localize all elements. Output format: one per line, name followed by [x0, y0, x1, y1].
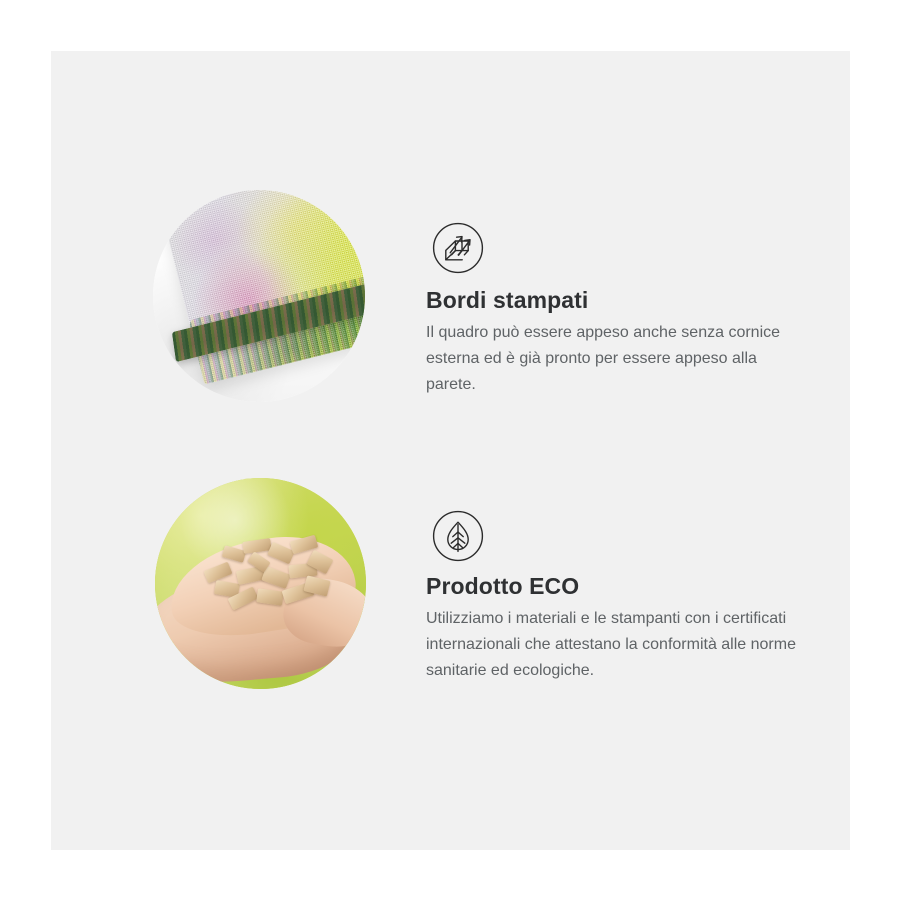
feature-text-eco-product: Prodotto ECO Utilizziamo i materiali e l…	[426, 573, 806, 684]
feature-description: Il quadro può essere appeso anche senza …	[426, 320, 798, 398]
feature-title: Prodotto ECO	[426, 573, 806, 600]
eco-photo-backdrop	[155, 478, 366, 689]
feature-panel: Bordi stampati Il quadro può essere appe…	[51, 51, 850, 850]
wood-chips-in-hands-photo	[155, 478, 366, 689]
feature-text-printed-edges: Bordi stampati Il quadro può essere appe…	[426, 287, 806, 398]
canvas-corner-photo	[153, 190, 365, 402]
wood-chips-pile	[199, 536, 339, 622]
feature-description: Utilizziamo i materiali e le stampanti c…	[426, 606, 798, 684]
product-feature-page: Bordi stampati Il quadro può essere appe…	[0, 0, 900, 900]
leaf-icon	[432, 510, 484, 562]
printed-canvas-edges-icon	[432, 222, 484, 274]
feature-printed-edges: Bordi stampati Il quadro può essere appe…	[51, 190, 850, 465]
feature-eco-product: Prodotto ECO Utilizziamo i materiali e l…	[51, 478, 850, 743]
feature-title: Bordi stampati	[426, 287, 806, 314]
canvas-photo-backdrop	[153, 190, 365, 402]
